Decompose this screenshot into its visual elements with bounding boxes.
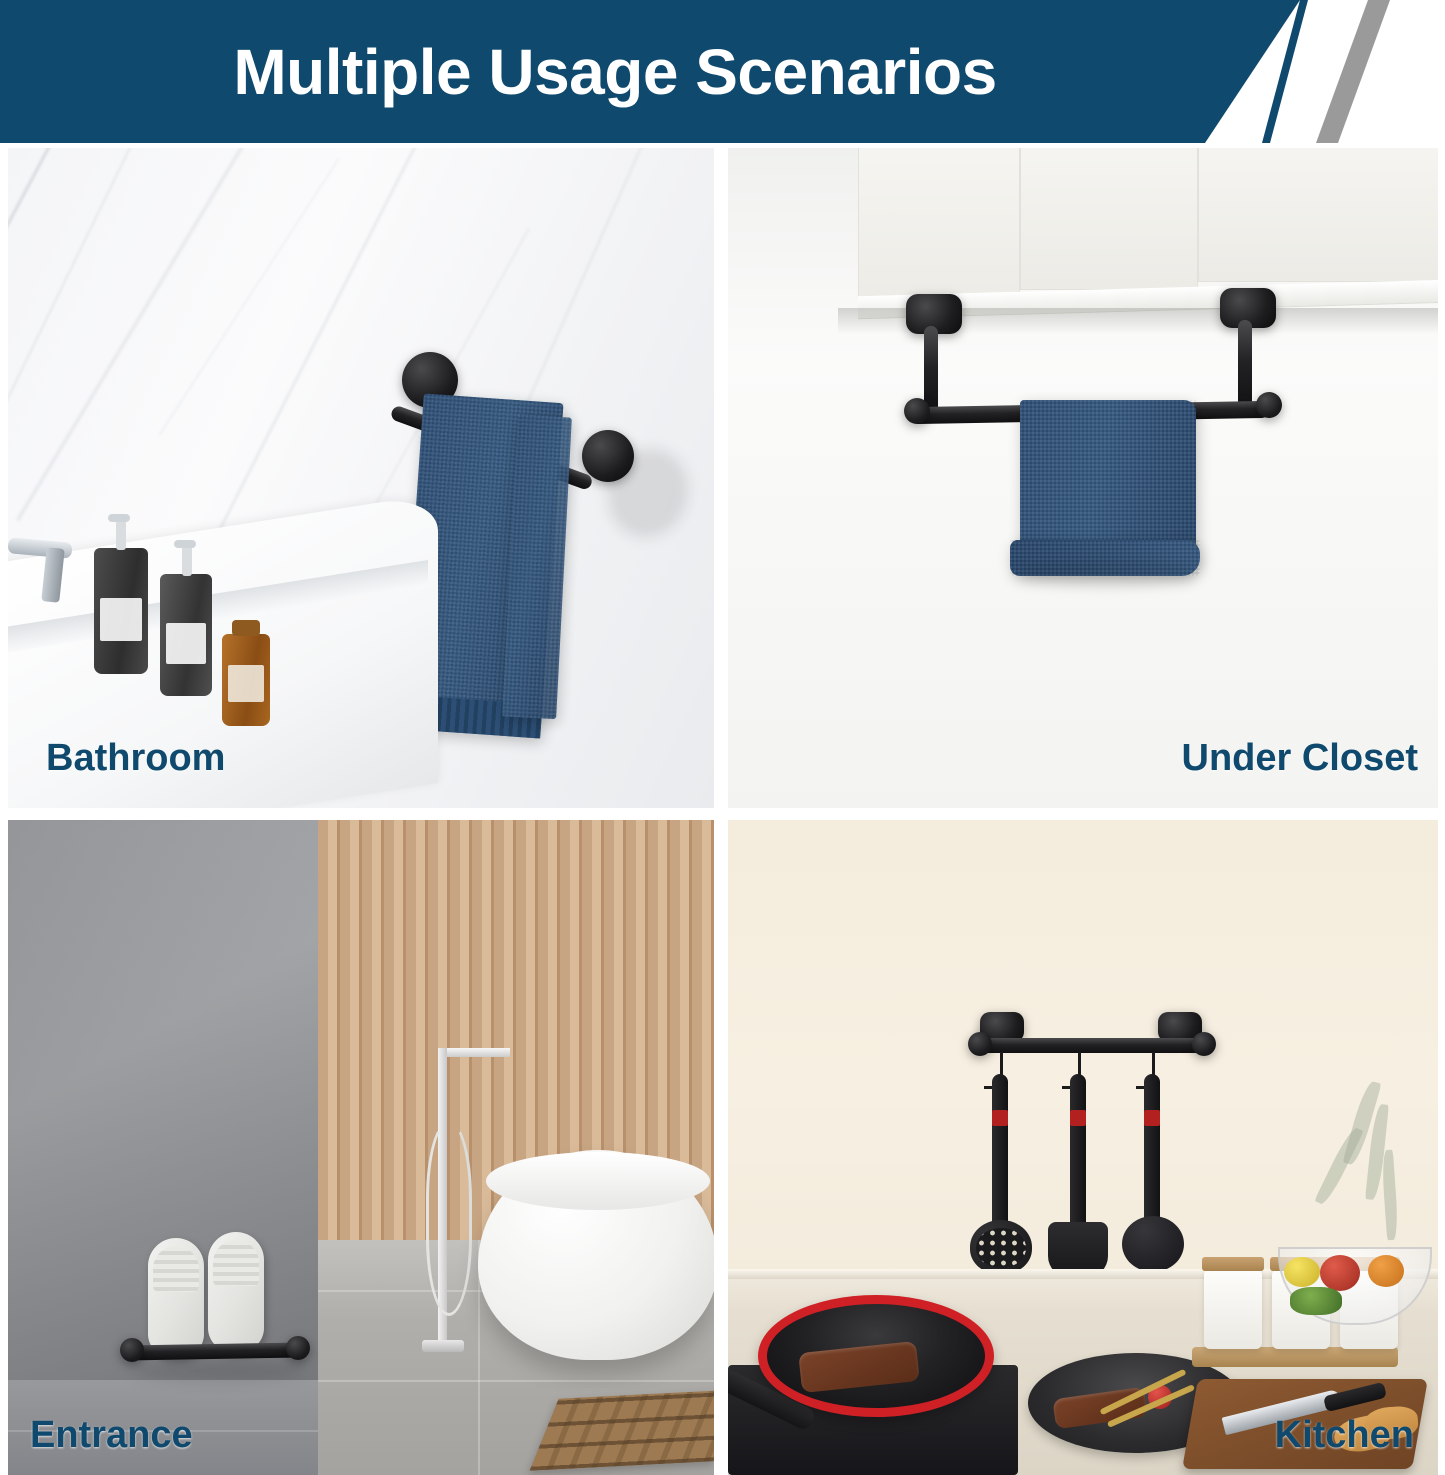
slipper-left <box>148 1238 204 1358</box>
scenario-grid: Bathroom <box>0 148 1445 1475</box>
panel-caption-under-closet: Under Closet <box>1182 737 1418 780</box>
slipper-rack-end-right <box>286 1336 310 1360</box>
panel-entrance: Entrance <box>8 820 714 1475</box>
panel-caption-entrance: Entrance <box>30 1414 193 1457</box>
cabinet-door-left <box>858 148 1020 312</box>
panel-kitchen: Kitchen <box>728 820 1438 1475</box>
fruit-apple <box>1320 1255 1360 1291</box>
soap-bottle-1 <box>94 548 148 674</box>
skimmer-holes <box>976 1228 1026 1268</box>
towel-bar-post-right <box>1238 320 1252 412</box>
slipper-rack-end-left <box>120 1338 144 1362</box>
utensil-rail-rod <box>974 1038 1210 1053</box>
panel-bathroom: Bathroom <box>8 148 714 808</box>
soap-bottle-2 <box>160 574 212 696</box>
ladle-bowl <box>1122 1216 1184 1272</box>
soap-bottle-1-pump-head <box>108 514 130 522</box>
cabinet-door-middle <box>1020 148 1198 290</box>
ladle-handle <box>1144 1074 1160 1228</box>
fruit-orange <box>1368 1255 1404 1287</box>
cabinet-door-right <box>1198 148 1438 282</box>
bath-mat-slats <box>530 1389 714 1470</box>
slipper-right-strap <box>213 1240 259 1286</box>
fruit-greens <box>1290 1287 1342 1315</box>
bathtub-rim <box>486 1152 710 1210</box>
bamboo-tray <box>1192 1347 1398 1367</box>
soap-bottle-2-label <box>166 623 206 664</box>
utensil-rail-end-right <box>1192 1032 1216 1056</box>
skimmer-brand-band <box>992 1110 1008 1126</box>
slipper-right <box>208 1232 264 1352</box>
turner-handle <box>1070 1074 1086 1234</box>
turner-brand-band <box>1070 1110 1086 1126</box>
shower-hose <box>426 1120 472 1316</box>
soap-bottle-1-label <box>100 598 141 641</box>
header-title: Multiple Usage Scenarios <box>0 0 1230 143</box>
towel-bar-rod-end-left <box>904 398 930 424</box>
header-banner: Multiple Usage Scenarios <box>0 0 1445 143</box>
amber-bottle <box>222 634 270 726</box>
product-infographic: Multiple Usage Scenarios <box>0 0 1445 1475</box>
amber-bottle-cap <box>232 620 260 636</box>
panel-under-closet: Under Closet <box>728 148 1438 808</box>
towel-bar-rod-end-right <box>1256 392 1282 418</box>
header-accent-slash-grey <box>1316 0 1390 143</box>
spice-jar-1-lid <box>1202 1257 1264 1271</box>
slipper-rack-rod <box>126 1342 302 1360</box>
panel-caption-bathroom: Bathroom <box>46 737 225 780</box>
skimmer-handle <box>992 1074 1008 1234</box>
soap-bottle-2-pump-head <box>174 540 196 548</box>
spice-jar-1 <box>1204 1269 1262 1349</box>
slipper-left-strap <box>153 1246 199 1292</box>
amber-bottle-label <box>228 665 265 702</box>
soap-bottle-1-pump <box>116 520 126 550</box>
tub-tap-base <box>422 1340 464 1352</box>
fruit-lemon <box>1284 1257 1320 1287</box>
ladle-brand-band <box>1144 1110 1160 1126</box>
panel-caption-kitchen: Kitchen <box>1275 1414 1414 1457</box>
wooden-bath-mat <box>530 1389 714 1470</box>
soap-bottle-2-pump <box>182 546 192 576</box>
tub-tap-spout <box>438 1048 510 1057</box>
